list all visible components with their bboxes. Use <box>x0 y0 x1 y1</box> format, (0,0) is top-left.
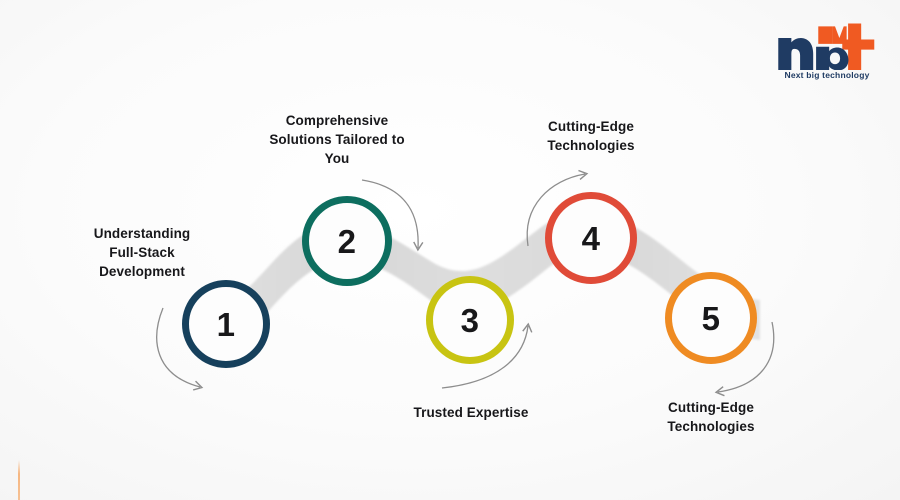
step-number-2: 2 <box>338 225 357 258</box>
nbt-logo-icon <box>772 22 882 70</box>
step-label-4-line1: Cutting-Edge <box>513 117 669 136</box>
step-label-5-line2: Technologies <box>633 417 789 436</box>
step-label-2-line3: You <box>244 149 430 168</box>
step-node-2[interactable]: 2 <box>302 196 392 286</box>
step-label-1-line2: Full-Stack <box>62 243 222 262</box>
step-number-5: 5 <box>702 302 721 335</box>
step-node-1[interactable]: 1 <box>182 280 270 368</box>
step-label-5-line1: Cutting-Edge <box>633 398 789 417</box>
step-number-1: 1 <box>217 308 236 341</box>
step-number-4: 4 <box>582 222 601 255</box>
edge-accent-tick <box>18 460 20 500</box>
infographic-canvas: 1 Understanding Full-Stack Development 2… <box>0 0 900 500</box>
step-node-4[interactable]: 4 <box>545 192 637 284</box>
step-label-3: Trusted Expertise <box>386 403 556 422</box>
step-label-1-line3: Development <box>62 262 222 281</box>
step-label-3-line1: Trusted Expertise <box>386 403 556 422</box>
brand-tagline: Next big technology <box>772 70 882 80</box>
step-label-1-line1: Understanding <box>62 224 222 243</box>
step-label-2-line2: Solutions Tailored to <box>244 130 430 149</box>
step-label-2-line1: Comprehensive <box>244 111 430 130</box>
step-label-5: Cutting-Edge Technologies <box>633 398 789 436</box>
step-number-3: 3 <box>461 304 480 337</box>
step-label-2: Comprehensive Solutions Tailored to You <box>244 111 430 168</box>
step-node-3[interactable]: 3 <box>426 276 514 364</box>
brand-logo[interactable]: Next big technology <box>772 22 882 88</box>
step-label-1: Understanding Full-Stack Development <box>62 224 222 281</box>
step-label-4-line2: Technologies <box>513 136 669 155</box>
step-label-4: Cutting-Edge Technologies <box>513 117 669 155</box>
step-node-5[interactable]: 5 <box>665 272 757 364</box>
